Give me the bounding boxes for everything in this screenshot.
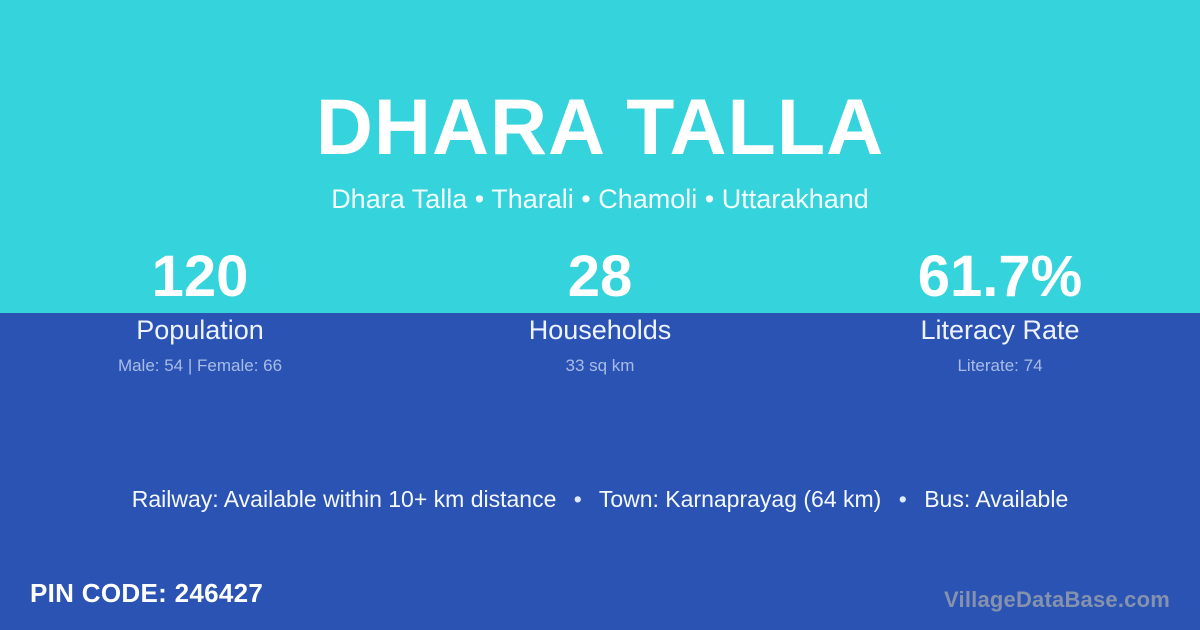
- stat-value-population: 120: [0, 242, 400, 312]
- stat-label-population: Population: [0, 314, 400, 347]
- brand-watermark: VillageDataBase.com: [944, 586, 1170, 614]
- stat-sub-population: Male: 54 | Female: 66: [0, 355, 400, 376]
- stat-value-households: 28: [400, 242, 800, 312]
- pin-code: PIN CODE: 246427: [30, 577, 263, 609]
- infrastructure-town: Town: Karnaprayag (64 km): [599, 486, 882, 512]
- stat-population: 120 Population Male: 54 | Female: 66: [0, 242, 400, 376]
- village-info-card: DHARA TALLA Dhara Talla • Tharali • Cham…: [0, 0, 1200, 630]
- stat-label-households: Households: [400, 314, 800, 347]
- infrastructure-railway: Railway: Available within 10+ km distanc…: [132, 486, 557, 512]
- stats-row: 120 Population Male: 54 | Female: 66 28 …: [0, 242, 1200, 376]
- stat-literacy-rate: 61.7% Literacy Rate Literate: 74: [800, 242, 1200, 376]
- infrastructure-separator-2: •: [888, 484, 918, 514]
- infrastructure-separator-1: •: [563, 484, 593, 514]
- stat-label-literacy-rate: Literacy Rate: [800, 314, 1200, 347]
- stat-households: 28 Households 33 sq km: [400, 242, 800, 376]
- breadcrumb: Dhara Talla • Tharali • Chamoli • Uttara…: [0, 182, 1200, 216]
- stat-sub-households: 33 sq km: [400, 355, 800, 376]
- card-footer: PIN CODE: 246427 VillageDataBase.com: [0, 572, 1200, 630]
- infrastructure-bus: Bus: Available: [924, 486, 1068, 512]
- stat-sub-literacy-rate: Literate: 74: [800, 355, 1200, 376]
- infrastructure-line: Railway: Available within 10+ km distanc…: [0, 484, 1200, 514]
- stat-value-literacy-rate: 61.7%: [800, 242, 1200, 312]
- page-title: DHARA TALLA: [0, 82, 1200, 172]
